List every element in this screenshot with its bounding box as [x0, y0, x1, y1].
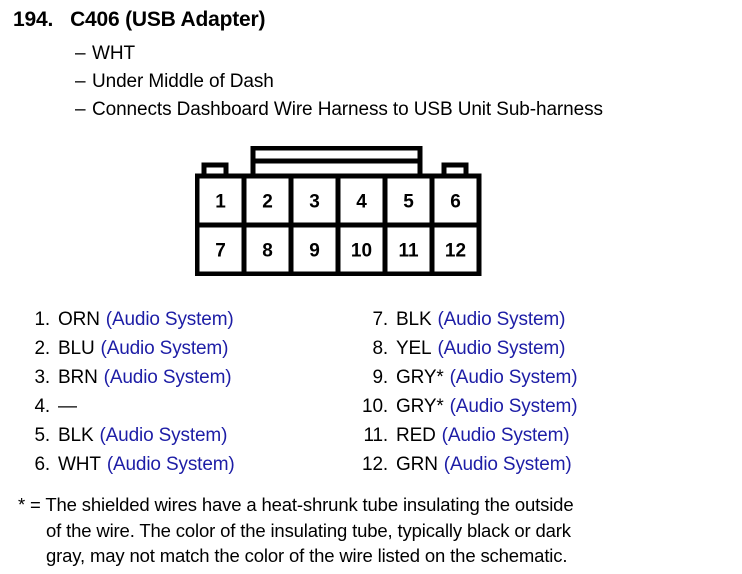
pin-cell-9: 9 [309, 241, 320, 262]
wire-color: — [58, 392, 77, 421]
wire-color: BRN [58, 363, 98, 392]
pin-cell-4: 4 [356, 192, 367, 213]
circuit-name: (Audio System) [437, 305, 565, 334]
connector-name: C406 (USB Adapter) [70, 8, 265, 31]
latch-tab-shape [253, 148, 420, 176]
pin-number: 2. [14, 334, 50, 363]
footnote-line: * = The shielded wires have a heat-shrun… [18, 492, 724, 518]
pin-cell-11: 11 [398, 241, 419, 262]
bullet-dash-icon: – [75, 71, 92, 93]
wire-color: RED [396, 421, 436, 450]
pin-number: 6. [14, 450, 50, 479]
pin-list-right-column: 7.BLK(Audio System) 8.YEL(Audio System) … [352, 305, 742, 479]
detail-line-color: –WHT [75, 43, 135, 65]
detail-text: Under Middle of Dash [92, 71, 274, 92]
wire-color: GRY* [396, 392, 444, 421]
pin-row: 7.BLK(Audio System) [352, 305, 742, 334]
circuit-name: (Audio System) [444, 450, 572, 479]
pin-number: 12. [352, 450, 388, 479]
wire-color: GRY* [396, 363, 444, 392]
pin-list-left-column: 1.ORN(Audio System) 2.BLU(Audio System) … [14, 305, 354, 479]
bullet-dash-icon: – [75, 99, 92, 121]
connector-body [197, 176, 479, 274]
detail-text: Connects Dashboard Wire Harness to USB U… [92, 99, 603, 120]
footnote-line: gray, may not match the color of the wir… [18, 543, 724, 569]
bullet-dash-icon: – [75, 43, 92, 65]
pin-number: 9. [352, 363, 388, 392]
pin-number: 5. [14, 421, 50, 450]
pin-row: 8.YEL(Audio System) [352, 334, 742, 363]
wire-color: YEL [396, 334, 431, 363]
pin-row: 5.BLK(Audio System) [14, 421, 354, 450]
wire-color: WHT [58, 450, 101, 479]
wire-color: BLU [58, 334, 95, 363]
pin-cell-1: 1 [215, 192, 226, 213]
entry-number: 194. [13, 8, 53, 31]
pin-row: 2.BLU(Audio System) [14, 334, 354, 363]
pin-row: 9.GRY*(Audio System) [352, 363, 742, 392]
circuit-name: (Audio System) [99, 421, 227, 450]
circuit-name: (Audio System) [450, 392, 578, 421]
pin-cell-10: 10 [351, 241, 372, 262]
circuit-name: (Audio System) [437, 334, 565, 363]
pin-number: 7. [352, 305, 388, 334]
pin-cell-3: 3 [309, 192, 320, 213]
pin-row: 3.BRN(Audio System) [14, 363, 354, 392]
pin-number: 10. [352, 392, 388, 421]
pin-row: 6.WHT(Audio System) [14, 450, 354, 479]
circuit-name: (Audio System) [107, 450, 235, 479]
footnote-block: * = The shielded wires have a heat-shrun… [18, 492, 724, 569]
pin-number: 1. [14, 305, 50, 334]
pin-cell-12: 12 [445, 241, 466, 262]
wire-color: ORN [58, 305, 100, 334]
pin-cell-6: 6 [450, 192, 461, 213]
pin-number: 3. [14, 363, 50, 392]
pin-row: 1.ORN(Audio System) [14, 305, 354, 334]
wire-color: BLK [58, 421, 93, 450]
pin-cell-5: 5 [403, 192, 414, 213]
pin-row: 11.RED(Audio System) [352, 421, 742, 450]
detail-line-connects: –Connects Dashboard Wire Harness to USB … [75, 99, 603, 121]
pin-row: 12.GRN(Audio System) [352, 450, 742, 479]
page-title: 194.C406 (USB Adapter) [13, 8, 265, 32]
pin-row: 10.GRY*(Audio System) [352, 392, 742, 421]
circuit-name: (Audio System) [450, 363, 578, 392]
pin-cell-2: 2 [262, 192, 273, 213]
pin-cell-8: 8 [262, 241, 273, 262]
wire-color: BLK [396, 305, 431, 334]
pin-row: 4.— [14, 392, 354, 421]
detail-text: WHT [92, 43, 135, 64]
wire-color: GRN [396, 450, 438, 479]
circuit-name: (Audio System) [104, 363, 232, 392]
circuit-name: (Audio System) [442, 421, 570, 450]
detail-line-location: –Under Middle of Dash [75, 71, 274, 93]
pin-number: 4. [14, 392, 50, 421]
circuit-name: (Audio System) [101, 334, 229, 363]
pin-number: 8. [352, 334, 388, 363]
pin-number: 11. [352, 421, 388, 450]
pin-cell-7: 7 [215, 241, 226, 262]
connector-diagram: 1 2 3 4 5 6 7 8 9 10 11 12 [195, 146, 485, 276]
circuit-name: (Audio System) [106, 305, 234, 334]
footnote-line: of the wire. The color of the insulating… [18, 518, 724, 544]
